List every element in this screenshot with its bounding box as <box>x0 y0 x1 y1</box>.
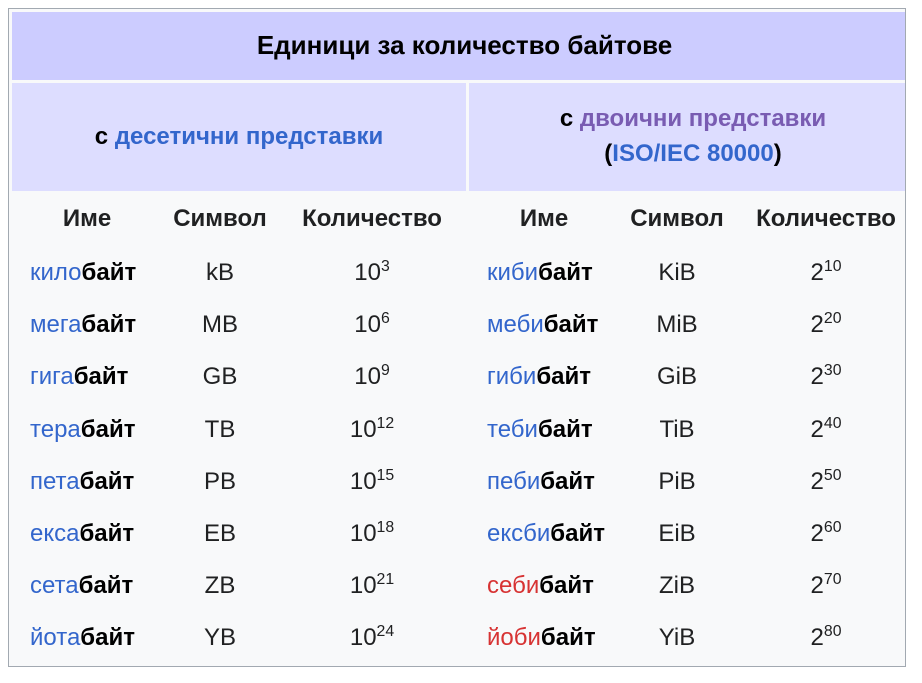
byte-units-table: Единици за количество байтове с десетичн… <box>9 9 906 666</box>
cell-unit-symbol-decimal: EB <box>165 509 275 558</box>
unit-name-prefix-link[interactable]: меби <box>487 311 544 338</box>
cell-unit-name-decimal: сетабайт <box>12 562 162 611</box>
unit-name-prefix-link[interactable]: ексби <box>487 520 550 547</box>
quantity-base: 2 <box>811 259 824 286</box>
unit-name-prefix-link[interactable]: гиби <box>487 363 536 390</box>
standard-paren-close: ) <box>774 140 782 167</box>
table-row: ексабайтEB1018ексбибайтEiB260 <box>12 509 906 558</box>
quantity-exponent: 20 <box>824 310 842 327</box>
infobox-title: Единици за количество байтове <box>12 12 906 80</box>
group-header-binary: с двоични представки (ISO/IEC 80000) <box>469 83 906 191</box>
table-row: терабайтTB1012тебибайтTiB240 <box>12 405 906 454</box>
quantity-base: 2 <box>811 311 824 338</box>
quantity-base: 2 <box>811 520 824 547</box>
cell-unit-name-decimal: ексабайт <box>12 509 162 558</box>
cell-unit-name-decimal: килобайт <box>12 248 162 297</box>
table-row: сетабайтZB1021себибайтZiB270 <box>12 562 906 611</box>
quantity-exponent: 10 <box>824 258 842 275</box>
cell-unit-quantity-decimal: 109 <box>278 353 466 402</box>
quantity-exponent: 60 <box>824 519 842 536</box>
column-header-symbol-binary: Символ <box>622 194 732 245</box>
unit-name-suffix: байт <box>80 624 135 651</box>
cell-unit-name-binary: себибайт <box>469 562 619 611</box>
cell-unit-name-binary: пебибайт <box>469 457 619 506</box>
unit-name-prefix-link[interactable]: киби <box>487 259 538 286</box>
unit-name-suffix: байт <box>540 468 595 495</box>
group-header-decimal-link[interactable]: десетични представки <box>115 123 383 150</box>
unit-name-prefix-link[interactable]: гига <box>30 363 74 390</box>
quantity-base: 10 <box>354 363 381 390</box>
unit-name-suffix: байт <box>536 363 591 390</box>
unit-name-prefix-link[interactable]: себи <box>487 572 539 599</box>
table-row: мегабайтMB106мебибайтMiB220 <box>12 301 906 350</box>
unit-name-prefix-link[interactable]: мега <box>30 311 81 338</box>
cell-unit-symbol-binary: TiB <box>622 405 732 454</box>
cell-unit-symbol-binary: MiB <box>622 301 732 350</box>
column-header-quantity-decimal: Количество <box>278 194 466 245</box>
cell-unit-quantity-decimal: 1015 <box>278 457 466 506</box>
cell-unit-quantity-binary: 260 <box>735 509 906 558</box>
cell-unit-symbol-binary: PiB <box>622 457 732 506</box>
cell-unit-name-binary: ексбибайт <box>469 509 619 558</box>
quantity-exponent: 15 <box>377 467 395 484</box>
unit-name-suffix: байт <box>81 416 136 443</box>
quantity-exponent: 40 <box>824 415 842 432</box>
cell-unit-symbol-decimal: ZB <box>165 562 275 611</box>
group-header-row: с десетични представки с двоични предста… <box>12 83 906 191</box>
cell-unit-quantity-decimal: 106 <box>278 301 466 350</box>
group-header-binary-word: с <box>560 105 573 132</box>
unit-name-suffix: байт <box>80 468 135 495</box>
unit-name-suffix: байт <box>550 520 605 547</box>
unit-name-prefix-link[interactable]: сета <box>30 572 79 599</box>
column-header-symbol-decimal: Символ <box>165 194 275 245</box>
quantity-base: 10 <box>354 311 381 338</box>
quantity-base: 10 <box>354 259 381 286</box>
cell-unit-quantity-decimal: 1024 <box>278 614 466 663</box>
column-header-name-binary: Име <box>469 194 619 245</box>
quantity-exponent: 50 <box>824 467 842 484</box>
cell-unit-symbol-decimal: MB <box>165 301 275 350</box>
quantity-base: 10 <box>350 416 377 443</box>
quantity-exponent: 9 <box>381 362 390 379</box>
cell-unit-name-decimal: гигабайт <box>12 353 162 402</box>
quantity-exponent: 18 <box>377 519 395 536</box>
cell-unit-symbol-binary: ZiB <box>622 562 732 611</box>
unit-name-prefix-link[interactable]: теби <box>487 416 538 443</box>
cell-unit-quantity-decimal: 1021 <box>278 562 466 611</box>
quantity-exponent: 3 <box>381 258 390 275</box>
cell-unit-symbol-binary: YiB <box>622 614 732 663</box>
unit-name-prefix-link[interactable]: пеби <box>487 468 540 495</box>
cell-unit-name-binary: гибибайт <box>469 353 619 402</box>
quantity-exponent: 70 <box>824 571 842 588</box>
cell-unit-symbol-decimal: PB <box>165 457 275 506</box>
unit-name-suffix: байт <box>539 572 594 599</box>
cell-unit-symbol-decimal: kB <box>165 248 275 297</box>
group-header-binary-link[interactable]: двоични представки <box>580 105 826 132</box>
cell-unit-symbol-decimal: YB <box>165 614 275 663</box>
unit-name-prefix-link[interactable]: йота <box>30 624 80 651</box>
quantity-base: 10 <box>350 624 377 651</box>
column-header-row: Име Символ Количество Име Символ Количес… <box>12 194 906 245</box>
cell-unit-quantity-binary: 280 <box>735 614 906 663</box>
quantity-base: 10 <box>350 468 377 495</box>
unit-name-suffix: байт <box>79 572 134 599</box>
cell-unit-symbol-binary: KiB <box>622 248 732 297</box>
cell-unit-name-binary: кибибайт <box>469 248 619 297</box>
cell-unit-quantity-binary: 210 <box>735 248 906 297</box>
cell-unit-name-binary: йобибайт <box>469 614 619 663</box>
cell-unit-quantity-decimal: 1018 <box>278 509 466 558</box>
table-title-row: Единици за количество байтове <box>12 12 906 80</box>
cell-unit-quantity-binary: 250 <box>735 457 906 506</box>
quantity-base: 2 <box>811 468 824 495</box>
unit-name-prefix-link[interactable]: пета <box>30 468 80 495</box>
cell-unit-symbol-decimal: TB <box>165 405 275 454</box>
cell-unit-quantity-decimal: 103 <box>278 248 466 297</box>
cell-unit-quantity-binary: 240 <box>735 405 906 454</box>
cell-unit-symbol-binary: GiB <box>622 353 732 402</box>
unit-name-suffix: байт <box>544 311 599 338</box>
cell-unit-quantity-binary: 270 <box>735 562 906 611</box>
cell-unit-quantity-binary: 230 <box>735 353 906 402</box>
unit-name-suffix: байт <box>538 259 593 286</box>
cell-unit-symbol-binary: EiB <box>622 509 732 558</box>
unit-name-suffix: байт <box>82 259 137 286</box>
column-header-quantity-binary: Количество <box>735 194 906 245</box>
table-row: килобайтkB103кибибайтKiB210 <box>12 248 906 297</box>
quantity-exponent: 80 <box>824 623 842 640</box>
cell-unit-name-decimal: йотабайт <box>12 614 162 663</box>
unit-name-suffix: байт <box>74 363 129 390</box>
group-header-decimal-word: с <box>95 123 108 150</box>
quantity-exponent: 30 <box>824 362 842 379</box>
infobox-container: Единици за количество байтове с десетичн… <box>8 8 906 667</box>
cell-unit-name-binary: тебибайт <box>469 405 619 454</box>
cell-unit-symbol-decimal: GB <box>165 353 275 402</box>
unit-name-suffix: байт <box>79 520 134 547</box>
quantity-base: 2 <box>811 416 824 443</box>
quantity-base: 2 <box>811 572 824 599</box>
quantity-exponent: 21 <box>377 571 395 588</box>
cell-unit-quantity-decimal: 1012 <box>278 405 466 454</box>
cell-unit-name-decimal: терабайт <box>12 405 162 454</box>
quantity-base: 10 <box>350 520 377 547</box>
quantity-base: 2 <box>811 624 824 651</box>
table-row: гигабайтGB109гибибайтGiB230 <box>12 353 906 402</box>
quantity-exponent: 12 <box>377 415 395 432</box>
unit-name-prefix-link[interactable]: йоби <box>487 624 541 651</box>
cell-unit-quantity-binary: 220 <box>735 301 906 350</box>
group-header-decimal: с десетични представки <box>12 83 466 191</box>
quantity-exponent: 24 <box>377 623 395 640</box>
cell-unit-name-binary: мебибайт <box>469 301 619 350</box>
unit-name-prefix-link[interactable]: кило <box>30 259 82 286</box>
table-row: петабайтPB1015пебибайтPiB250 <box>12 457 906 506</box>
quantity-base: 2 <box>811 363 824 390</box>
unit-name-prefix-link[interactable]: тера <box>30 416 81 443</box>
unit-name-prefix-link[interactable]: екса <box>30 520 79 547</box>
unit-name-suffix: байт <box>81 311 136 338</box>
column-header-name-decimal: Име <box>12 194 162 245</box>
cell-unit-name-decimal: мегабайт <box>12 301 162 350</box>
table-row: йотабайтYB1024йобибайтYiB280 <box>12 614 906 663</box>
unit-name-suffix: байт <box>538 416 593 443</box>
cell-unit-name-decimal: петабайт <box>12 457 162 506</box>
quantity-base: 10 <box>350 572 377 599</box>
standard-link[interactable]: ISO/IEC 80000 <box>612 140 773 167</box>
unit-name-suffix: байт <box>541 624 596 651</box>
quantity-exponent: 6 <box>381 310 390 327</box>
